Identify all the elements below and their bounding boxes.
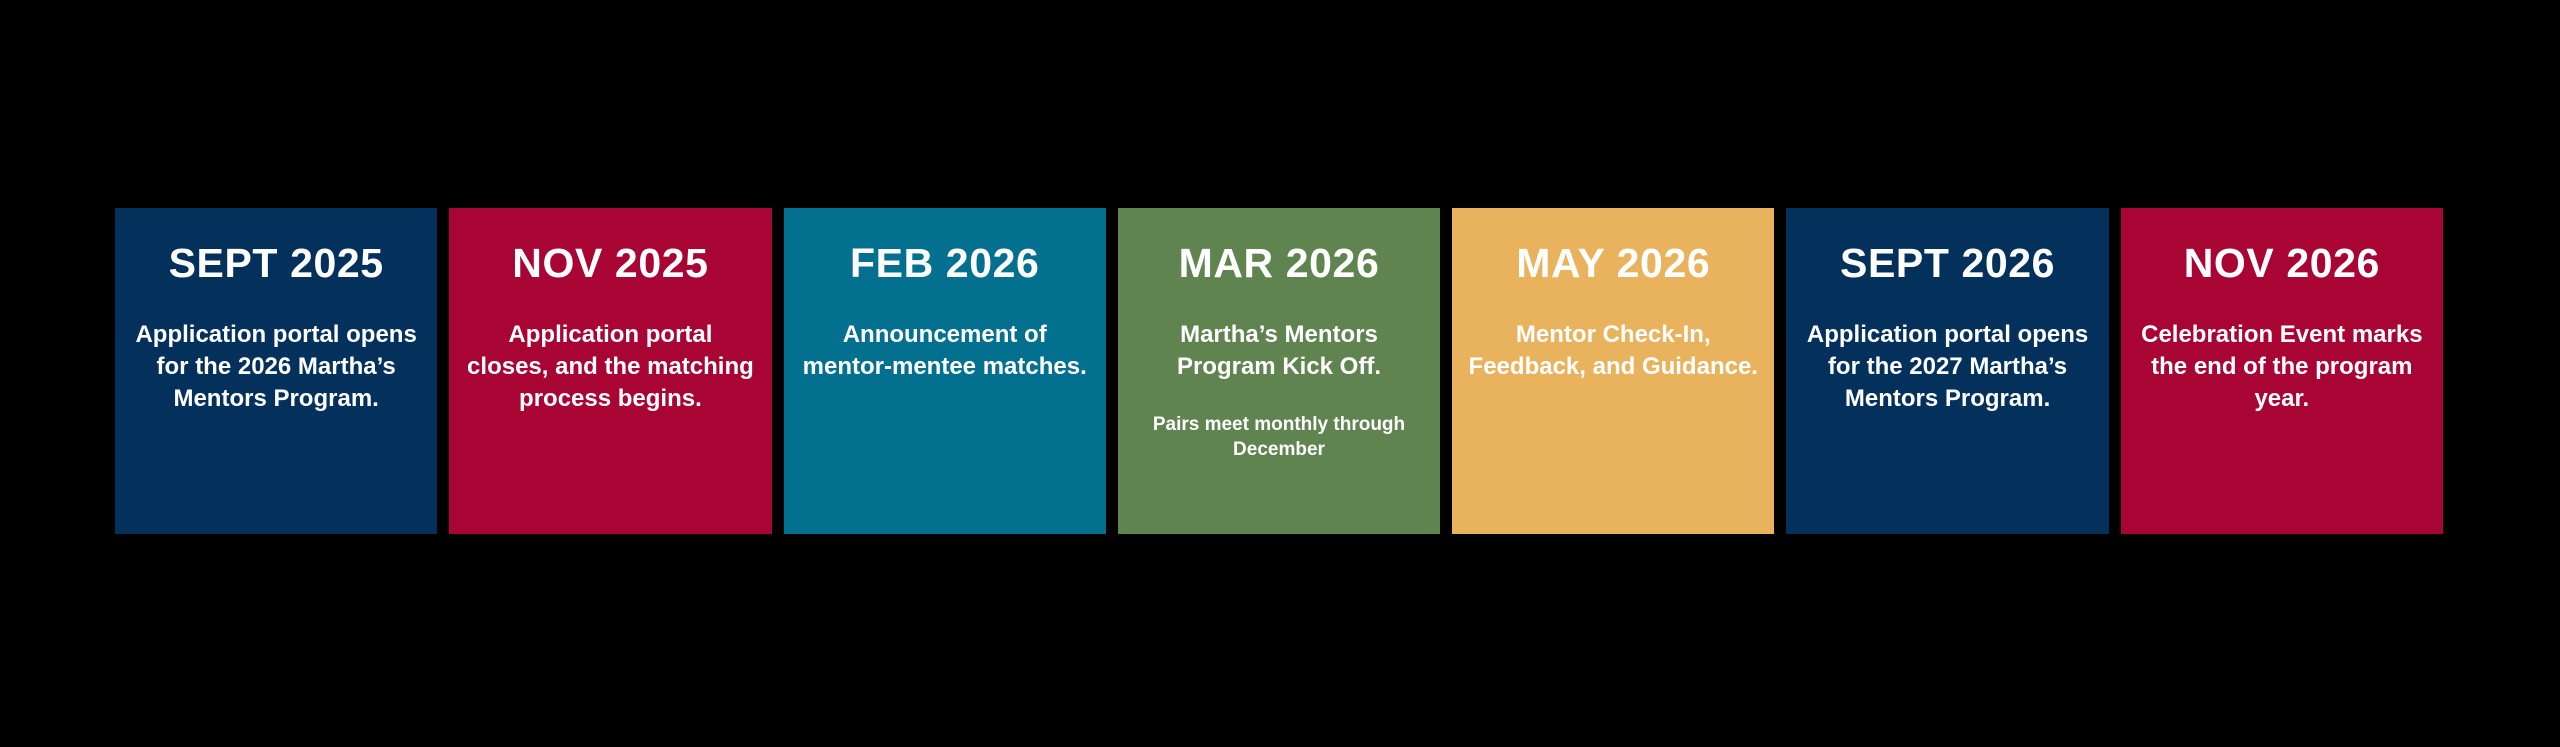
timeline-panel[interactable]: NOV 2026 Celebration Event marks the end… [2121,208,2443,534]
panel-note: Pairs meet monthly through December [1134,413,1424,462]
timeline-panel[interactable]: MAY 2026 Mentor Check-In, Feedback, and … [1452,208,1774,534]
panel-body: Celebration Event marks the end of the p… [2137,319,2427,415]
panel-body: Application portal closes, and the match… [465,319,755,415]
timeline-track: SEPT 2025 Application portal opens for t… [115,208,2443,534]
panel-date: MAR 2026 [1179,242,1380,285]
panel-date: NOV 2025 [512,242,708,285]
timeline-panel[interactable]: MAR 2026 Martha’s Mentors Program Kick O… [1118,208,1440,534]
timeline-graphic: SEPT 2025 Application portal opens for t… [0,0,2560,747]
panel-body: Application portal opens for the 2027 Ma… [1802,319,2092,415]
panel-body: Mentor Check-In, Feedback, and Guidance. [1468,319,1758,383]
panel-date: NOV 2026 [2184,242,2380,285]
panel-date: MAY 2026 [1516,242,1710,285]
timeline-panel[interactable]: FEB 2026 Announcement of mentor-mentee m… [784,208,1106,534]
timeline-panel[interactable]: NOV 2025 Application portal closes, and … [449,208,771,534]
timeline-panel[interactable]: SEPT 2025 Application portal opens for t… [115,208,437,534]
panel-body: Application portal opens for the 2026 Ma… [131,319,421,415]
panel-date: SEPT 2025 [169,242,384,285]
panel-date: FEB 2026 [850,242,1039,285]
panel-body: Announcement of mentor-mentee matches. [800,319,1090,383]
panel-body: Martha’s Mentors Program Kick Off. [1134,319,1424,383]
timeline-panel[interactable]: SEPT 2026 Application portal opens for t… [1786,208,2108,534]
panel-date: SEPT 2026 [1840,242,2055,285]
